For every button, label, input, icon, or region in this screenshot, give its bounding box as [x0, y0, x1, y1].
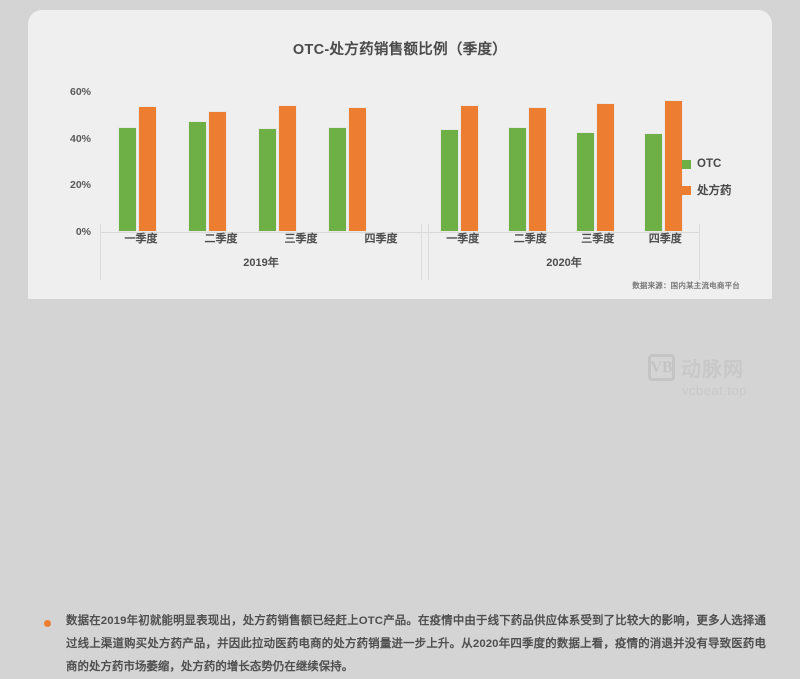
quarter-label-row: 一季度二季度三季度四季度 [429, 230, 699, 246]
chart-legend: OTC 处方药 [682, 158, 732, 210]
y-axis-tick-40: 40% [70, 133, 91, 145]
x-axis-band-2020年: 一季度二季度三季度四季度2020年 [428, 224, 700, 280]
bar-group [644, 72, 684, 232]
quarter-label-row: 一季度二季度三季度四季度 [101, 230, 421, 246]
bar-group [258, 72, 298, 232]
bar-group [188, 72, 228, 232]
bar-rx[interactable] [278, 105, 297, 232]
chart-card: OTC-处方药销售额比例（季度） 0%20%40%60% 一季度二季度三季度四季… [28, 10, 772, 299]
bar-rx[interactable] [208, 111, 227, 232]
bar-otc[interactable] [440, 129, 459, 232]
commentary-text: 数据在2019年初就能明显表现出，处方药销售额已经赶上OTC产品。在疫情中由于线… [66, 610, 766, 679]
bar-rx[interactable] [664, 100, 683, 232]
chart-title: OTC-处方药销售额比例（季度） [28, 38, 772, 59]
bar-series-layer [100, 62, 700, 232]
legend-label-otc: OTC [697, 158, 721, 170]
y-axis-tick-60: 60% [70, 86, 91, 98]
legend-item-otc[interactable]: OTC [682, 158, 732, 170]
source-note: 数据来源：国内某主流电商平台 [632, 280, 740, 291]
chart-plot-area: 0%20%40%60% [100, 62, 700, 232]
legend-swatch-rx [682, 186, 691, 195]
bar-otc[interactable] [508, 127, 527, 232]
commentary-panel: 数据在2019年初就能明显表现出，处方药销售额已经赶上OTC产品。在疫情中由于线… [0, 299, 800, 405]
x-axis-quarter-label: 三季度 [564, 230, 632, 246]
legend-item-rx[interactable]: 处方药 [682, 182, 732, 198]
x-axis-quarter-label: 二季度 [497, 230, 565, 246]
bar-otc[interactable] [328, 127, 347, 232]
bar-rx[interactable] [596, 103, 615, 233]
legend-label-rx: 处方药 [697, 182, 732, 198]
bar-otc[interactable] [118, 127, 137, 232]
x-axis-year-label: 2020年 [429, 254, 699, 270]
legend-swatch-otc [682, 160, 691, 169]
screenshot-root: OTC-处方药销售额比例（季度） 0%20%40%60% 一季度二季度三季度四季… [0, 0, 800, 405]
bar-rx[interactable] [138, 106, 157, 232]
y-axis-tick-0: 0% [76, 226, 91, 238]
x-axis-quarter-label: 二季度 [181, 230, 261, 246]
bar-rx[interactable] [460, 105, 479, 232]
bar-rx[interactable] [528, 107, 547, 232]
bar-group [440, 72, 480, 232]
bar-group [576, 72, 616, 232]
bar-otc[interactable] [644, 133, 663, 232]
bar-group [328, 72, 368, 232]
x-axis-quarter-label: 四季度 [341, 230, 421, 246]
bar-group [118, 72, 158, 232]
x-axis-year-label: 2019年 [101, 254, 421, 270]
bar-otc[interactable] [258, 128, 277, 232]
x-axis-quarter-label: 三季度 [261, 230, 341, 246]
bar-group [508, 72, 548, 232]
bar-rx[interactable] [348, 107, 367, 232]
y-axis-tick-20: 20% [70, 179, 91, 191]
x-axis-quarter-label: 四季度 [632, 230, 700, 246]
x-axis-band-2019年: 一季度二季度三季度四季度2019年 [100, 224, 422, 280]
x-axis-quarter-label: 一季度 [101, 230, 181, 246]
bullet-dot-icon [44, 620, 51, 627]
bar-otc[interactable] [188, 121, 207, 232]
bar-otc[interactable] [576, 132, 595, 232]
x-axis-quarter-label: 一季度 [429, 230, 497, 246]
